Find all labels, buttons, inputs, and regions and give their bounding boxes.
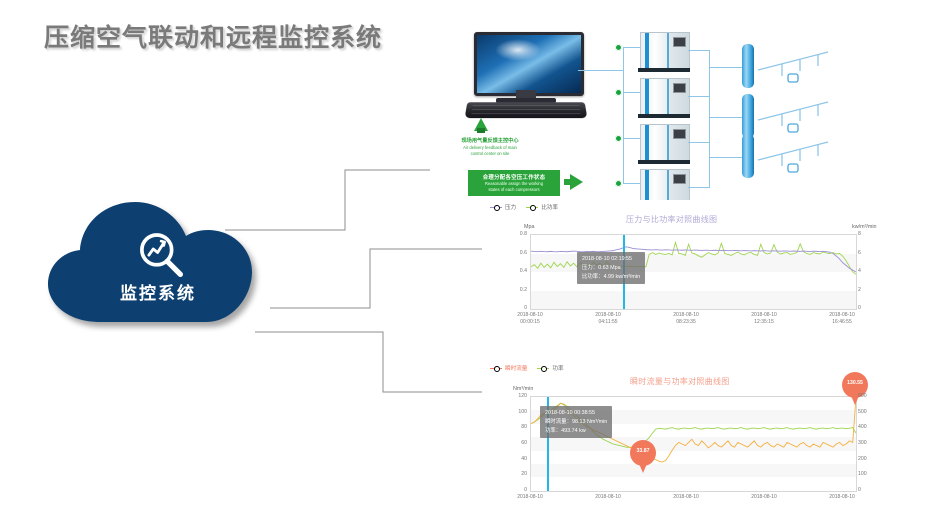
page-title: 压缩空气联动和远程监控系统 <box>44 18 382 54</box>
pressure-ytick-right-4: 0 <box>858 305 870 311</box>
pressure-xtick-0-time: 00:00:15 <box>496 319 564 326</box>
flow-ytick-right-0: 600 <box>858 393 874 399</box>
compressor-2 <box>640 78 688 118</box>
tree-trunk-icon <box>477 128 485 133</box>
pipe-collector-3 <box>688 142 710 143</box>
flow-xtick-2: 2018-08-10 <box>652 494 720 501</box>
pressure-chart: 压力 比功率 压力与比功率对照曲线图 Mpa kw/m³/min 2018-08… <box>482 200 882 335</box>
diagram-caption-en-line2: control center on site <box>430 151 550 157</box>
status-node-1 <box>615 44 622 51</box>
pressure-xtick-4-date: 2018-08-10 <box>808 312 876 319</box>
pressure-xtick-2-time: 08:23:35 <box>652 319 720 326</box>
flow-tooltip-line1: 瞬时流量：98.13 Nm³/min <box>545 418 607 427</box>
flow-max-marker-label: 130.55 <box>842 380 868 386</box>
chart-magnifier-icon <box>134 228 190 284</box>
pressure-tooltip-timestamp: 2018-08-10 02:19:55 <box>582 255 640 264</box>
flow-ytick-right-1: 500 <box>858 409 874 415</box>
status-node-2 <box>615 89 622 96</box>
pressure-y-axis-unit: Mpa <box>524 224 535 230</box>
legend-label-flow: 瞬时流量 <box>505 364 527 372</box>
green-arrow-icon <box>570 174 583 190</box>
flow-xtick-0: 2018-08-10 <box>496 494 564 501</box>
pressure-xtick-2-date: 2018-08-10 <box>652 312 720 319</box>
pressure-xtick-1-time: 04:11:55 <box>574 319 642 326</box>
flow-ytick-5: 20 <box>508 471 527 477</box>
flow-ytick-1: 100 <box>508 409 527 415</box>
pressure-ytick-1: 0.6 <box>508 250 527 256</box>
green-callout-box: 合理分配各空压工作状态 Reasonable assign the workin… <box>468 170 560 196</box>
flow-xtick-1: 2018-08-10 <box>574 494 642 501</box>
pressure-xtick-4: 2018-08-10 16:46:55 <box>808 312 876 327</box>
legend-marker-flow <box>490 366 502 371</box>
flow-tooltip-timestamp: 2018-08-10 00:38:55 <box>545 409 607 418</box>
pressure-ytick-right-2: 4 <box>858 268 870 274</box>
green-callout-en: Reasonable assign the working states of … <box>485 181 543 193</box>
pressure-xtick-1-date: 2018-08-10 <box>574 312 642 319</box>
flow-chart-legend: 瞬时流量 功率 <box>490 364 564 372</box>
pressure-xtick-1: 2018-08-10 04:11:55 <box>574 312 642 327</box>
green-callout-cn: 合理分配各空压工作状态 <box>483 173 546 181</box>
flow-ytick-3: 60 <box>508 440 527 446</box>
flow-ytick-6: 0 <box>508 487 527 493</box>
legend-label-power: 功率 <box>552 364 563 372</box>
flow-tooltip: 2018-08-10 00:38:55 瞬时流量：98.13 Nm³/min 功… <box>540 406 612 438</box>
slide-root: 压缩空气联动和远程监控系统 监控系统 <box>0 0 945 529</box>
legend-item-pressure[interactable]: 压力 <box>490 203 516 211</box>
flow-ytick-right-4: 200 <box>858 456 874 462</box>
compressor-1 <box>640 32 688 72</box>
status-node-4 <box>615 180 622 187</box>
flow-power-chart: 瞬时流量 功率 瞬时流量与功率对照曲线图 Nm³/min 2018-08 <box>482 362 882 522</box>
flow-ytick-right-3: 300 <box>858 440 874 446</box>
pressure-xtick-3-time: 12:35:15 <box>730 319 798 326</box>
pressure-xtick-0: 2018-08-10 00:00:15 <box>496 312 564 327</box>
cloud-label: 监控系统 <box>38 279 278 304</box>
pressure-ytick-right-0: 8 <box>858 231 870 237</box>
flow-xtick-3: 2018-08-10 <box>730 494 798 501</box>
flow-ytick-right-2: 400 <box>858 424 874 430</box>
flow-xtick-4: 2018-08-10 <box>808 494 876 501</box>
monitoring-cloud[interactable]: 监控系统 <box>38 192 288 332</box>
compressor-3 <box>640 124 688 164</box>
pressure-y-axis-unit-right: kw/m³/min <box>852 224 877 230</box>
pipe-bus-vertical-left <box>623 47 624 184</box>
legend-item-flow[interactable]: 瞬时流量 <box>490 364 527 372</box>
flow-min-marker[interactable]: 33.87 <box>630 440 656 474</box>
pressure-xtick-3-date: 2018-08-10 <box>730 312 798 319</box>
flow-ytick-right-5: 100 <box>858 471 874 477</box>
flow-y-axis-unit: Nm³/min <box>513 386 533 392</box>
diagram-caption-en: Air delivery feedback of main control ce… <box>430 145 550 157</box>
flow-tooltip-line2: 功率：493.74 kw <box>545 427 607 436</box>
air-tank-3 <box>742 134 754 178</box>
pressure-ytick-0: 0.8 <box>508 231 527 237</box>
pipe-collector-1 <box>688 50 710 51</box>
green-callout-en-line2: states of each compressors <box>485 187 543 193</box>
pressure-xtick-0-date: 2018-08-10 <box>496 312 564 319</box>
pipe-monitor-to-bus <box>578 70 624 71</box>
legend-item-power[interactable]: 功率 <box>537 364 563 372</box>
pressure-tooltip: 2018-08-10 02:19:55 压力：0.63 Mpa 比功率：4.99… <box>577 252 645 284</box>
pressure-tooltip-line1: 压力：0.63 Mpa <box>582 264 640 273</box>
legend-item-specific-power[interactable]: 比功率 <box>526 203 558 211</box>
distribution-lines <box>756 30 936 195</box>
flow-chart-title: 瞬时流量与功率对照曲线图 <box>630 376 730 387</box>
flow-ytick-0: 120 <box>508 393 527 399</box>
legend-marker-specific-power <box>526 205 538 210</box>
flow-ytick-4: 40 <box>508 456 527 462</box>
pressure-xtick-4-time: 16:46:55 <box>808 319 876 326</box>
pressure-ytick-right-1: 6 <box>858 250 870 256</box>
pipe-to-tank-2 <box>710 117 742 118</box>
pressure-ytick-4: 0 <box>508 305 527 311</box>
system-diagram: 现场用气量反馈主控中心 Air delivery feedback of mai… <box>430 22 945 202</box>
pipe-to-tank-1 <box>710 67 742 68</box>
legend-marker-power <box>537 366 549 371</box>
flow-min-marker-label: 33.87 <box>630 448 656 454</box>
pressure-chart-legend: 压力 比功率 <box>490 203 558 211</box>
pressure-tooltip-line2: 比功率：4.99 kw/m³/min <box>582 273 640 282</box>
control-center-monitor-icon <box>466 32 586 118</box>
pressure-xtick-3: 2018-08-10 12:35:15 <box>730 312 798 327</box>
flow-ytick-right-6: 0 <box>858 487 874 493</box>
air-tank-1 <box>742 44 754 88</box>
pressure-ytick-3: 0.2 <box>508 287 527 293</box>
flow-ytick-2: 80 <box>508 424 527 430</box>
pressure-xtick-2: 2018-08-10 08:23:35 <box>652 312 720 327</box>
pressure-ytick-right-3: 2 <box>858 287 870 293</box>
pipe-collector-vertical <box>709 50 710 187</box>
pressure-ytick-2: 0.4 <box>508 268 527 274</box>
flow-max-marker[interactable]: 130.55 <box>842 372 868 406</box>
status-node-3 <box>615 135 622 142</box>
air-tank-2 <box>742 94 754 138</box>
pipe-collector-4 <box>688 187 710 188</box>
legend-label-pressure: 压力 <box>505 203 516 211</box>
legend-label-specific-power: 比功率 <box>541 203 558 211</box>
pressure-chart-title: 压力与比功率对照曲线图 <box>626 214 717 225</box>
pipe-to-tank-3 <box>710 157 742 158</box>
pipe-collector-2 <box>688 96 710 97</box>
legend-marker-pressure <box>490 205 502 210</box>
